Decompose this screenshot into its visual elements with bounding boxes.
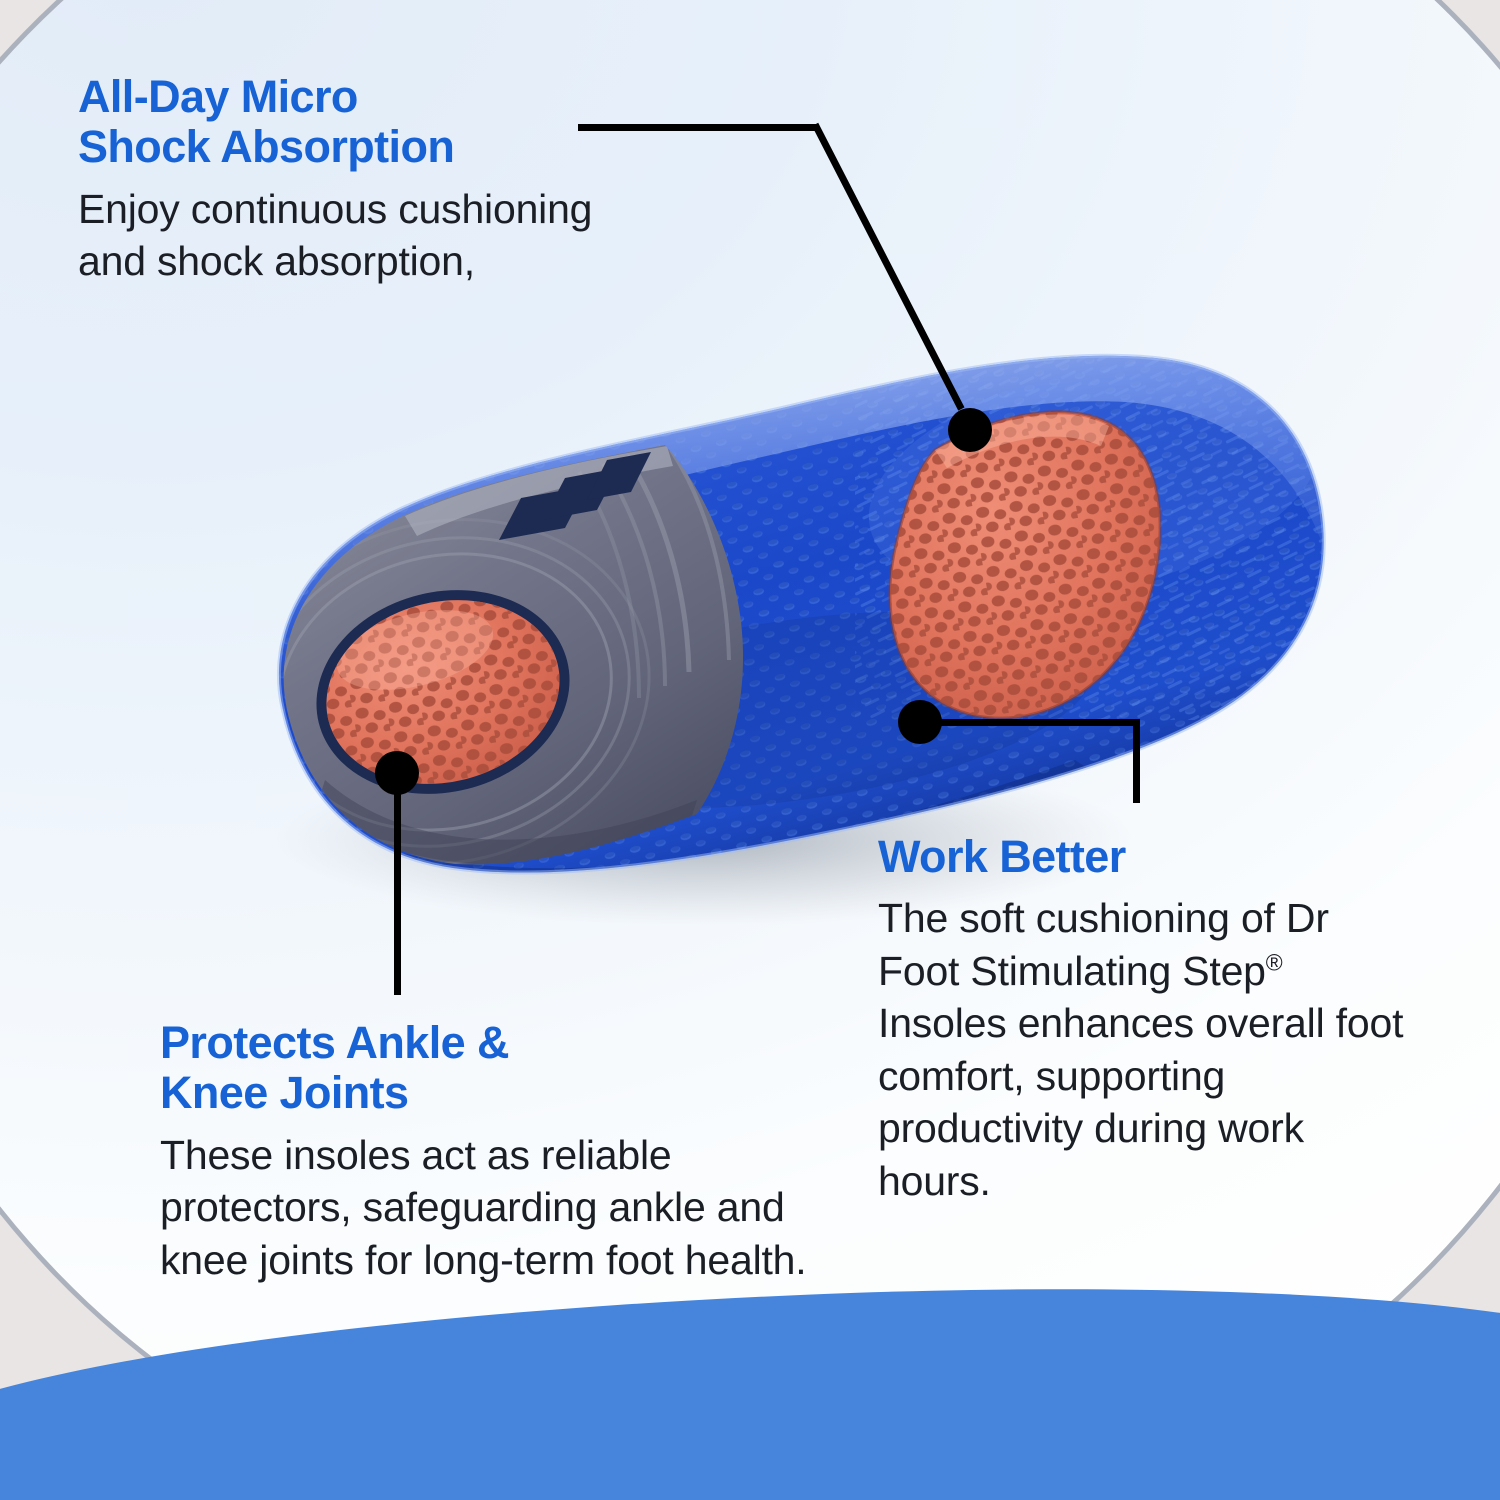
feature-title-line-1: Protects Ankle &: [160, 1017, 509, 1068]
leader-segment-vertical: [1133, 719, 1140, 803]
registered-trademark-icon: ®: [1266, 949, 1283, 975]
callout-dot-icon: [948, 408, 992, 452]
feature-title-protects-joints: Protects Ankle & Knee Joints: [160, 1018, 810, 1119]
leader-segment-horizontal: [938, 719, 1140, 726]
feature-body-part-2: Insoles enhances overall foot comfort, s…: [878, 1000, 1403, 1203]
feature-title-work-better: Work Better: [878, 832, 1408, 882]
feature-body-protects-joints: These insoles act as reliable protectors…: [160, 1129, 810, 1286]
feature-title-shock-absorption: All-Day Micro Shock Absorption: [78, 72, 618, 173]
leader-segment-vertical: [394, 773, 401, 995]
feature-block-shock-absorption: All-Day Micro Shock Absorption Enjoy con…: [78, 72, 618, 288]
feature-title-line-1: All-Day Micro: [78, 71, 358, 122]
feature-title-line-2: Knee Joints: [160, 1067, 408, 1118]
callout-dot-icon: [898, 700, 942, 744]
feature-body-work-better: The soft cushioning of Dr Foot Stimulati…: [878, 892, 1408, 1207]
feature-block-protects-joints: Protects Ankle & Knee Joints These insol…: [160, 1018, 810, 1286]
feature-body-part-1: The soft cushioning of Dr Foot Stimulati…: [878, 895, 1329, 993]
insole-product-image: [235, 240, 1345, 920]
feature-block-work-better: Work Better The soft cushioning of Dr Fo…: [878, 832, 1408, 1207]
feature-title-line-2: Shock Absorption: [78, 121, 454, 172]
feature-body-shock-absorption: Enjoy continuous cushioning and shock ab…: [78, 183, 618, 288]
infographic-canvas: All-Day Micro Shock Absorption Enjoy con…: [0, 0, 1500, 1500]
